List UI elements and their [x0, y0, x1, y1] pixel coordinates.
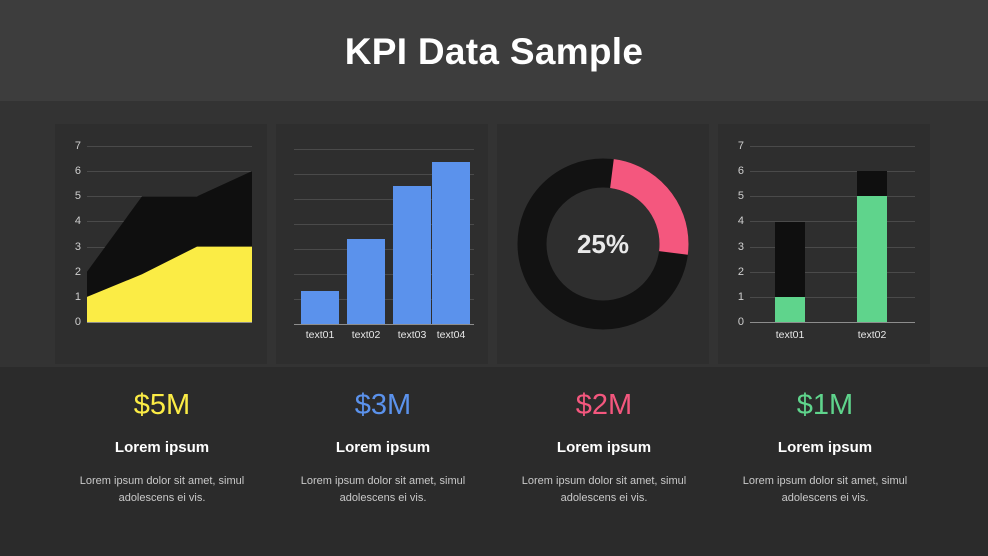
y-tick-5: 5: [65, 191, 81, 202]
bar-text03[interactable]: [393, 186, 431, 324]
y-tick-3: 3: [728, 242, 744, 253]
stacked-bar-chart-plot: 7 6 5 4 3 2 1 0 text01 text02: [718, 124, 930, 364]
bar-text01-black[interactable]: [775, 222, 805, 297]
chart-panel-donut[interactable]: 25%: [497, 124, 709, 364]
axis-baseline: [750, 322, 915, 323]
kpi-description: Lorem ipsum dolor sit amet, simul adoles…: [488, 473, 720, 507]
bar-text01[interactable]: [301, 291, 339, 324]
x-tick-text02: text02: [342, 330, 390, 341]
chart-panel-area[interactable]: 7 6 5 4 3 2 1 0: [55, 124, 267, 364]
y-tick-6: 6: [728, 166, 744, 177]
kpi-card-2[interactable]: $3M Lorem ipsum Lorem ipsum dolor sit am…: [267, 367, 499, 507]
axis-baseline: [294, 324, 474, 325]
y-tick-1: 1: [65, 292, 81, 303]
gridline-6: [750, 171, 915, 172]
x-tick-text01: text01: [766, 330, 814, 341]
kpi-card-1[interactable]: $5M Lorem ipsum Lorem ipsum dolor sit am…: [46, 367, 278, 507]
y-tick-3: 3: [65, 242, 81, 253]
y-tick-6: 6: [65, 166, 81, 177]
donut-center-label: 25%: [497, 230, 709, 258]
chart-panel-stacked-columns[interactable]: 7 6 5 4 3 2 1 0 text01 text02: [718, 124, 930, 364]
kpi-description: Lorem ipsum dolor sit amet, simul adoles…: [267, 473, 499, 507]
kpi-label: Lorem ipsum: [46, 439, 278, 457]
kpi-card-4[interactable]: $1M Lorem ipsum Lorem ipsum dolor sit am…: [709, 367, 941, 507]
charts-band: 7 6 5 4 3 2 1 0: [0, 101, 988, 367]
y-tick-7: 7: [65, 141, 81, 152]
x-tick-text04: text04: [427, 330, 475, 341]
x-tick-text01: text01: [296, 330, 344, 341]
y-tick-2: 2: [728, 267, 744, 278]
y-tick-4: 4: [65, 216, 81, 227]
page-title: KPI Data Sample: [0, 30, 988, 74]
y-tick-4: 4: [728, 216, 744, 227]
kpi-value: $3M: [267, 388, 499, 422]
y-tick-1: 1: [728, 292, 744, 303]
chart-panel-columns[interactable]: text01 text02 text03 text04: [276, 124, 488, 364]
kpi-label: Lorem ipsum: [267, 439, 499, 457]
bar-text02-black[interactable]: [857, 171, 887, 196]
kpi-value: $5M: [46, 388, 278, 422]
bar-text04[interactable]: [432, 162, 470, 324]
header-band: KPI Data Sample: [0, 0, 988, 101]
y-tick-0: 0: [65, 317, 81, 328]
bar-text02-green[interactable]: [857, 196, 887, 322]
bar-text02[interactable]: [347, 239, 385, 324]
y-tick-0: 0: [728, 317, 744, 328]
kpi-band: $5M Lorem ipsum Lorem ipsum dolor sit am…: [0, 367, 988, 556]
gridline-5: [750, 196, 915, 197]
y-tick-5: 5: [728, 191, 744, 202]
x-tick-text02: text02: [848, 330, 896, 341]
kpi-card-3[interactable]: $2M Lorem ipsum Lorem ipsum dolor sit am…: [488, 367, 720, 507]
gridline-7: [750, 146, 915, 147]
area-chart-plot: 7 6 5 4 3 2 1 0: [55, 124, 267, 364]
y-tick-2: 2: [65, 267, 81, 278]
bar-chart-plot: text01 text02 text03 text04: [276, 124, 488, 364]
kpi-label: Lorem ipsum: [488, 439, 720, 457]
kpi-value: $1M: [709, 388, 941, 422]
slide-root: KPI Data Sample 7 6: [0, 0, 988, 556]
kpi-description: Lorem ipsum dolor sit amet, simul adoles…: [46, 473, 278, 507]
y-tick-7: 7: [728, 141, 744, 152]
kpi-value: $2M: [488, 388, 720, 422]
gridline-7: [294, 149, 474, 150]
kpi-label: Lorem ipsum: [709, 439, 941, 457]
area-chart-svg: [55, 124, 267, 364]
kpi-description: Lorem ipsum dolor sit amet, simul adoles…: [709, 473, 941, 507]
bar-text01-green[interactable]: [775, 297, 805, 322]
